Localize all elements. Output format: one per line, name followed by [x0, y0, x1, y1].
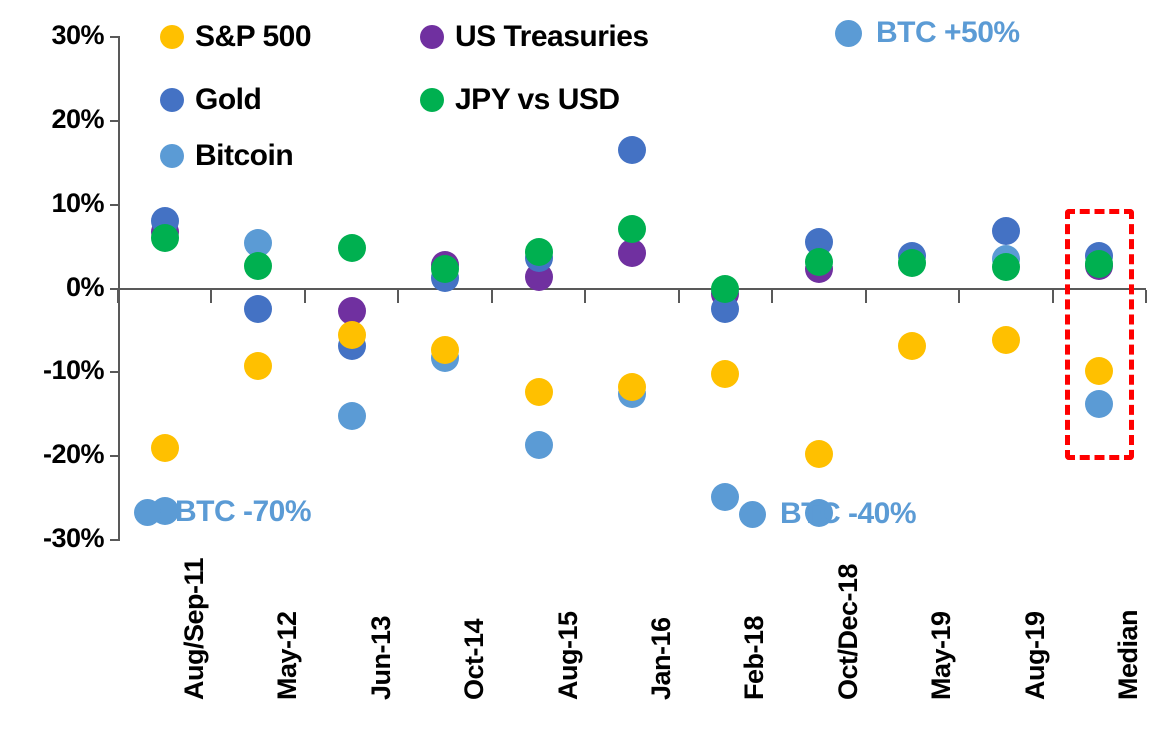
y-axis-tick-label: 10%: [8, 190, 104, 217]
btc-marker-icon: [739, 501, 766, 528]
legend-item-bitcoin[interactable]: Bitcoin: [160, 139, 293, 173]
y-axis-tick: [110, 539, 120, 541]
legend-label: Gold: [195, 83, 261, 117]
data-point: [618, 239, 646, 267]
data-point: [525, 238, 553, 266]
legend-item-gold[interactable]: Gold: [160, 83, 261, 117]
legend-label: Bitcoin: [195, 139, 293, 173]
x-axis-tick: [1145, 290, 1147, 303]
y-axis-tick-label: -30%: [8, 525, 104, 552]
x-axis-tick-label: Jun-13: [366, 616, 397, 700]
data-point: [244, 295, 272, 323]
annotation-btc-minus-70: BTC -70%: [134, 495, 311, 529]
legend-label: US Treasuries: [455, 20, 649, 54]
data-point: [992, 253, 1020, 281]
x-axis-tick-label: Aug-15: [553, 611, 584, 700]
x-axis-tick-label: Oct/Dec-18: [833, 564, 864, 700]
data-point: [338, 402, 366, 430]
data-point: [244, 252, 272, 280]
btc-marker-icon: [134, 499, 161, 526]
data-point: [151, 434, 179, 462]
data-point: [618, 136, 646, 164]
legend-swatch-icon: [160, 144, 184, 168]
x-axis-tick: [1052, 290, 1054, 303]
x-axis-tick-label: May-12: [272, 611, 303, 700]
annotation-label: BTC +50%: [876, 16, 1020, 50]
legend-swatch-icon: [160, 88, 184, 112]
legend-label: JPY vs USD: [455, 83, 620, 117]
data-point: [711, 483, 739, 511]
y-axis-tick: [110, 455, 120, 457]
data-point: [244, 352, 272, 380]
scatter-chart: 30%20%10%0%-10%-20%-30% Aug/Sep-11May-12…: [0, 0, 1151, 739]
x-axis-line: [118, 288, 1146, 290]
y-axis-tick-label: 0%: [8, 274, 104, 301]
x-axis-tick-label: Feb-18: [739, 616, 770, 700]
data-point: [618, 215, 646, 243]
data-point: [898, 249, 926, 277]
x-axis-tick: [210, 290, 212, 303]
legend-item-jpy-vs-usd[interactable]: JPY vs USD: [420, 83, 620, 117]
y-axis-tick-label: -10%: [8, 357, 104, 384]
legend-item-us-treasuries[interactable]: US Treasuries: [420, 20, 649, 54]
annotation-btc-minus-40: BTC -40%: [739, 497, 916, 531]
legend-swatch-icon: [160, 25, 184, 49]
annotation-label: BTC -70%: [175, 495, 311, 529]
y-axis-tick-label: 20%: [8, 106, 104, 133]
y-axis-tick: [110, 371, 120, 373]
x-axis-tick: [678, 290, 680, 303]
y-axis-tick-label: -20%: [8, 441, 104, 468]
x-axis-tick: [304, 290, 306, 303]
data-point: [431, 336, 459, 364]
x-axis-tick: [117, 290, 119, 303]
legend-label: S&P 500: [195, 20, 311, 54]
x-axis-tick: [491, 290, 493, 303]
x-axis-tick-label: Aug-19: [1020, 611, 1051, 700]
x-axis-tick: [865, 290, 867, 303]
legend-swatch-icon: [420, 88, 444, 112]
data-point: [898, 332, 926, 360]
data-point: [992, 326, 1020, 354]
data-point: [338, 321, 366, 349]
data-point: [805, 440, 833, 468]
data-point: [151, 224, 179, 252]
data-point: [525, 431, 553, 459]
btc-marker-icon: [835, 20, 862, 47]
data-point: [525, 378, 553, 406]
x-axis-tick: [771, 290, 773, 303]
data-point: [992, 217, 1020, 245]
y-axis-tick: [110, 204, 120, 206]
y-axis-tick: [110, 120, 120, 122]
y-axis-tick: [110, 36, 120, 38]
data-point: [711, 360, 739, 388]
x-axis-tick-label: May-19: [926, 611, 957, 700]
data-point: [338, 234, 366, 262]
y-axis-tick-label: 30%: [8, 22, 104, 49]
x-axis-tick-label: Median: [1113, 610, 1144, 700]
data-point: [805, 248, 833, 276]
data-point: [1085, 357, 1113, 385]
x-axis-tick-label: Jan-16: [646, 617, 677, 700]
x-axis-tick: [584, 290, 586, 303]
annotation-label: BTC -40%: [780, 497, 916, 531]
x-axis-tick-label: Oct-14: [459, 619, 490, 700]
annotation-btc-plus-50: BTC +50%: [835, 16, 1020, 50]
legend-item-s-p-500[interactable]: S&P 500: [160, 20, 311, 54]
x-axis-tick: [958, 290, 960, 303]
x-axis-tick: [397, 290, 399, 303]
x-axis-tick-label: Aug/Sep-11: [179, 558, 210, 700]
legend-swatch-icon: [420, 25, 444, 49]
